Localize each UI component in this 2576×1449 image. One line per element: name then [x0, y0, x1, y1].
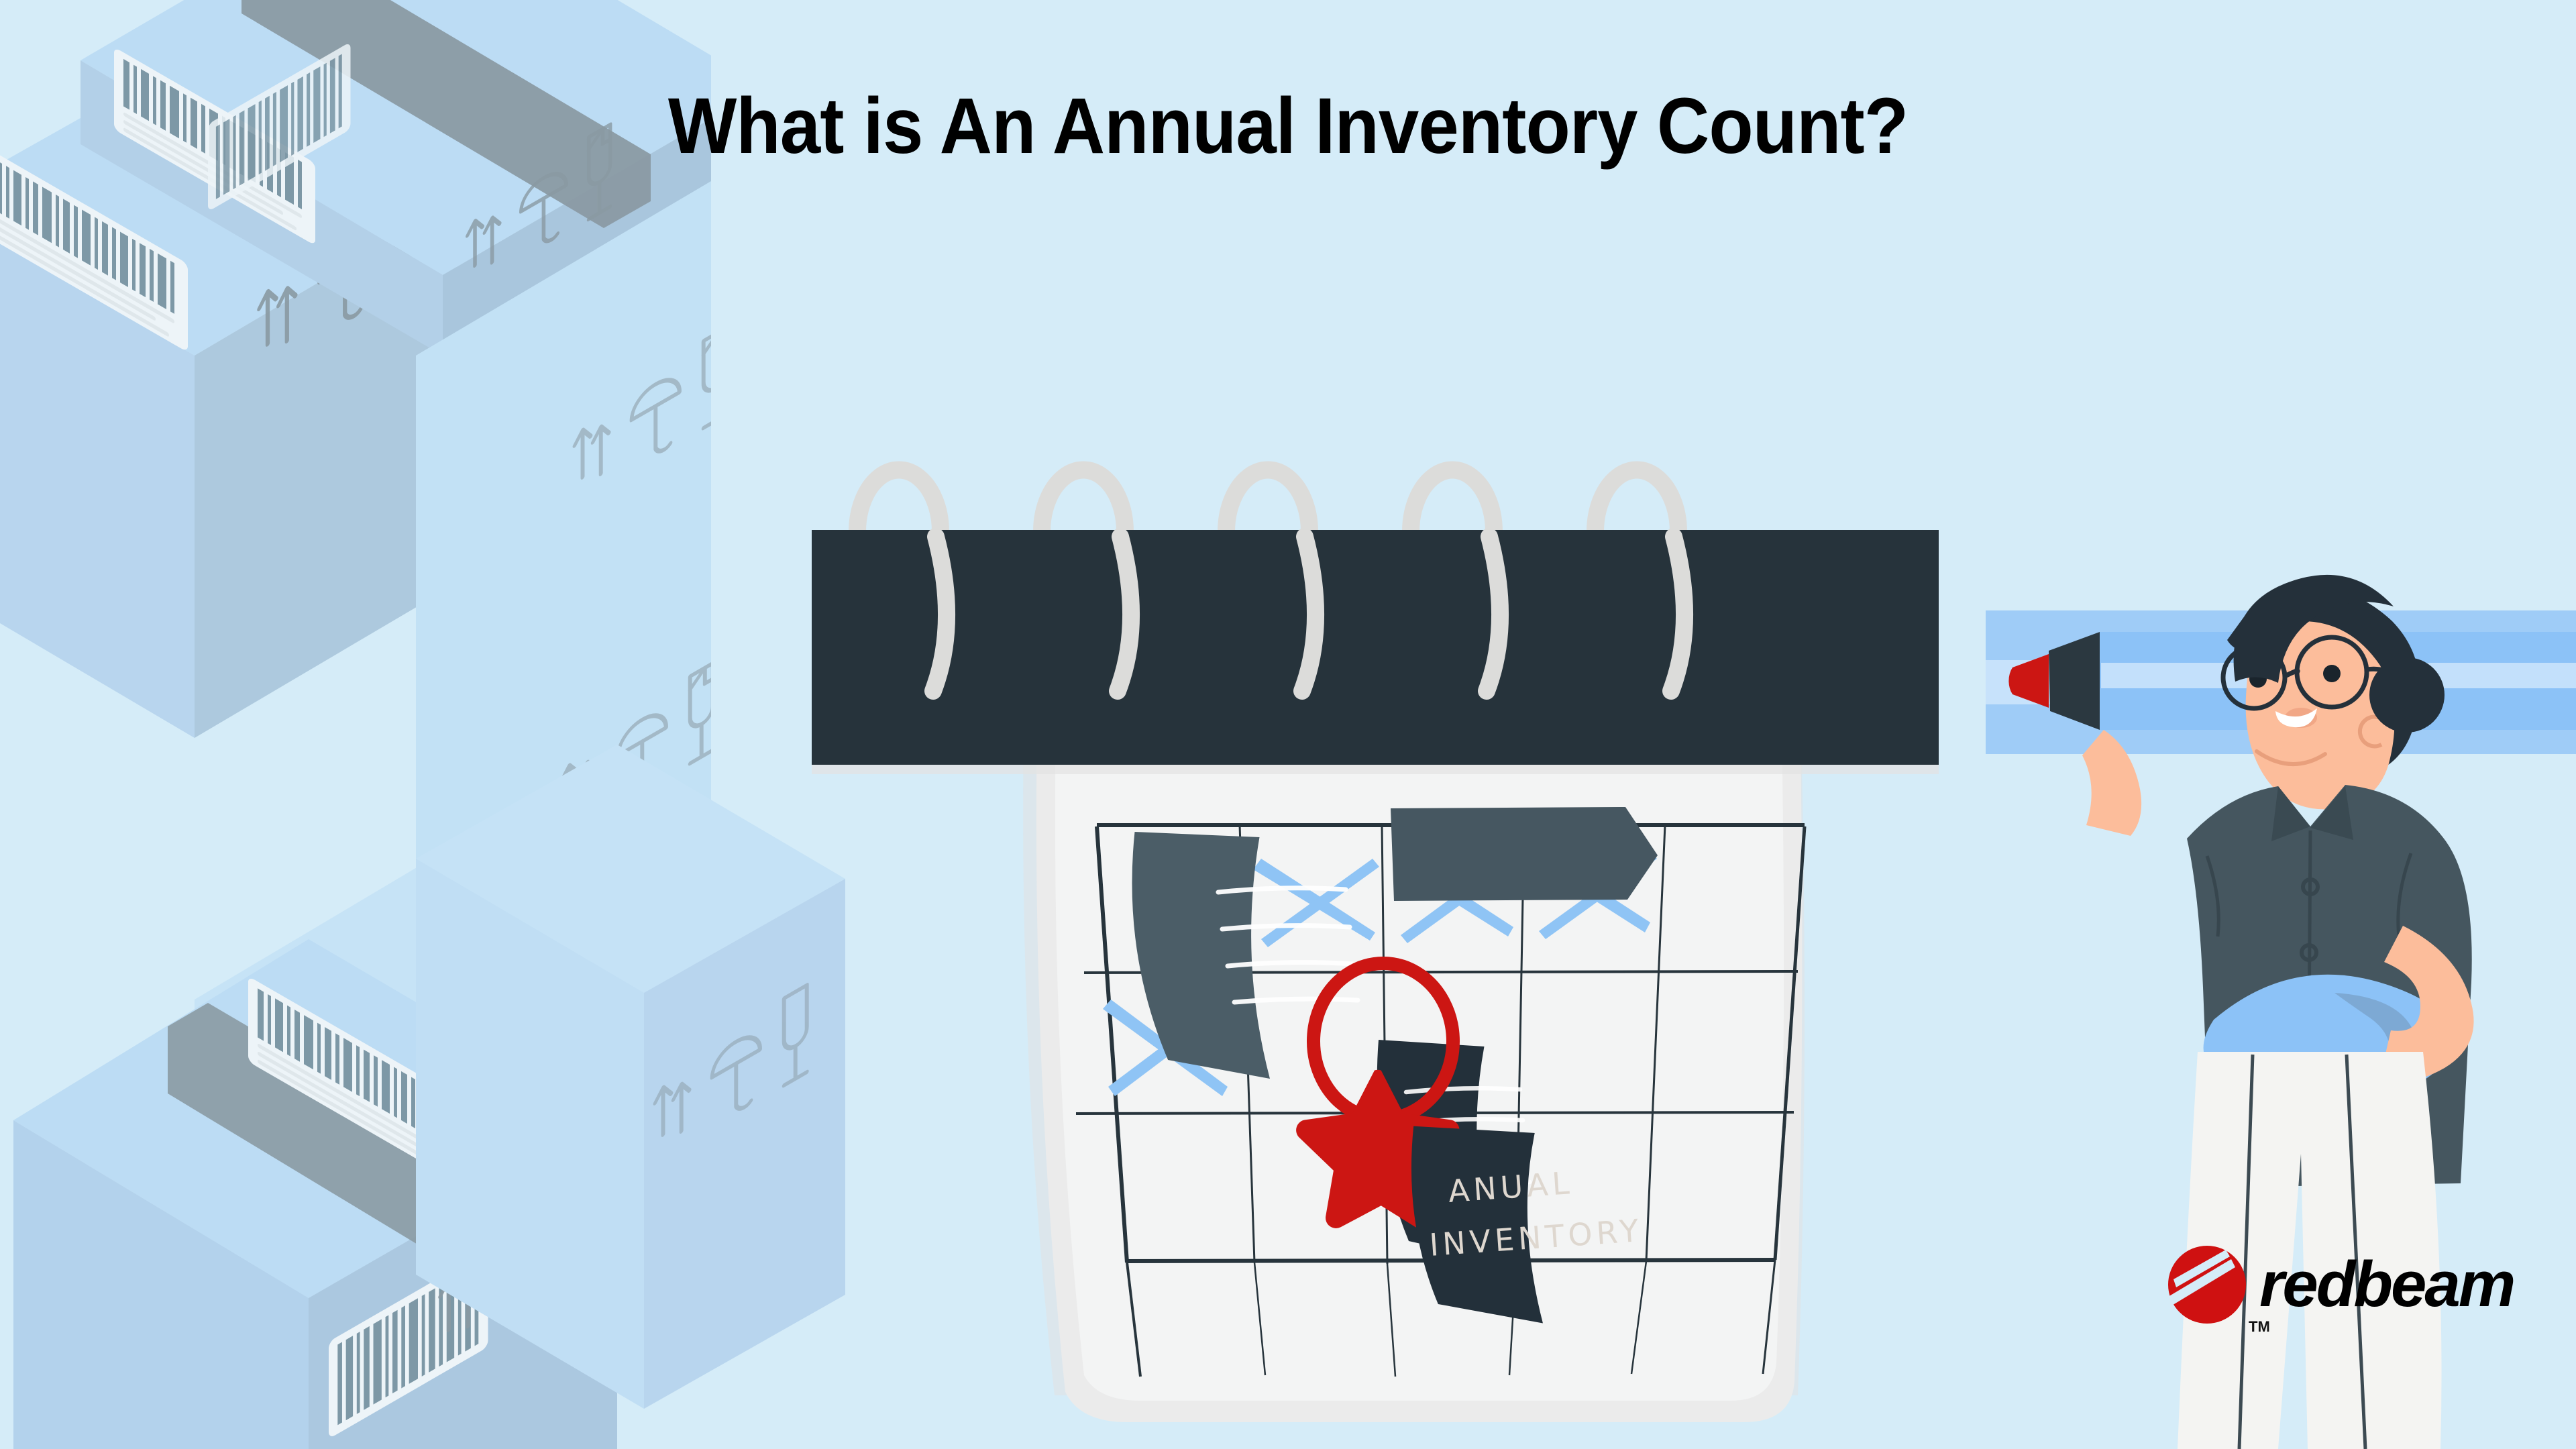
calendar-header-bar [812, 530, 1939, 774]
trademark-symbol: TM [2249, 1318, 2270, 1336]
redbeam-logo[interactable]: redbeam [2167, 1244, 2514, 1325]
redbeam-sphere-icon [2167, 1244, 2247, 1325]
illustration-canvas: ANUAL INVENTORY [0, 0, 2576, 1449]
redbeam-wordmark: redbeam [2259, 1252, 2514, 1317]
arrow-banner[interactable] [1391, 807, 1658, 901]
wall-calendar[interactable]: ANUAL INVENTORY [792, 416, 1972, 1449]
page-title: What is An Annual Inventory Count? [103, 80, 2473, 172]
